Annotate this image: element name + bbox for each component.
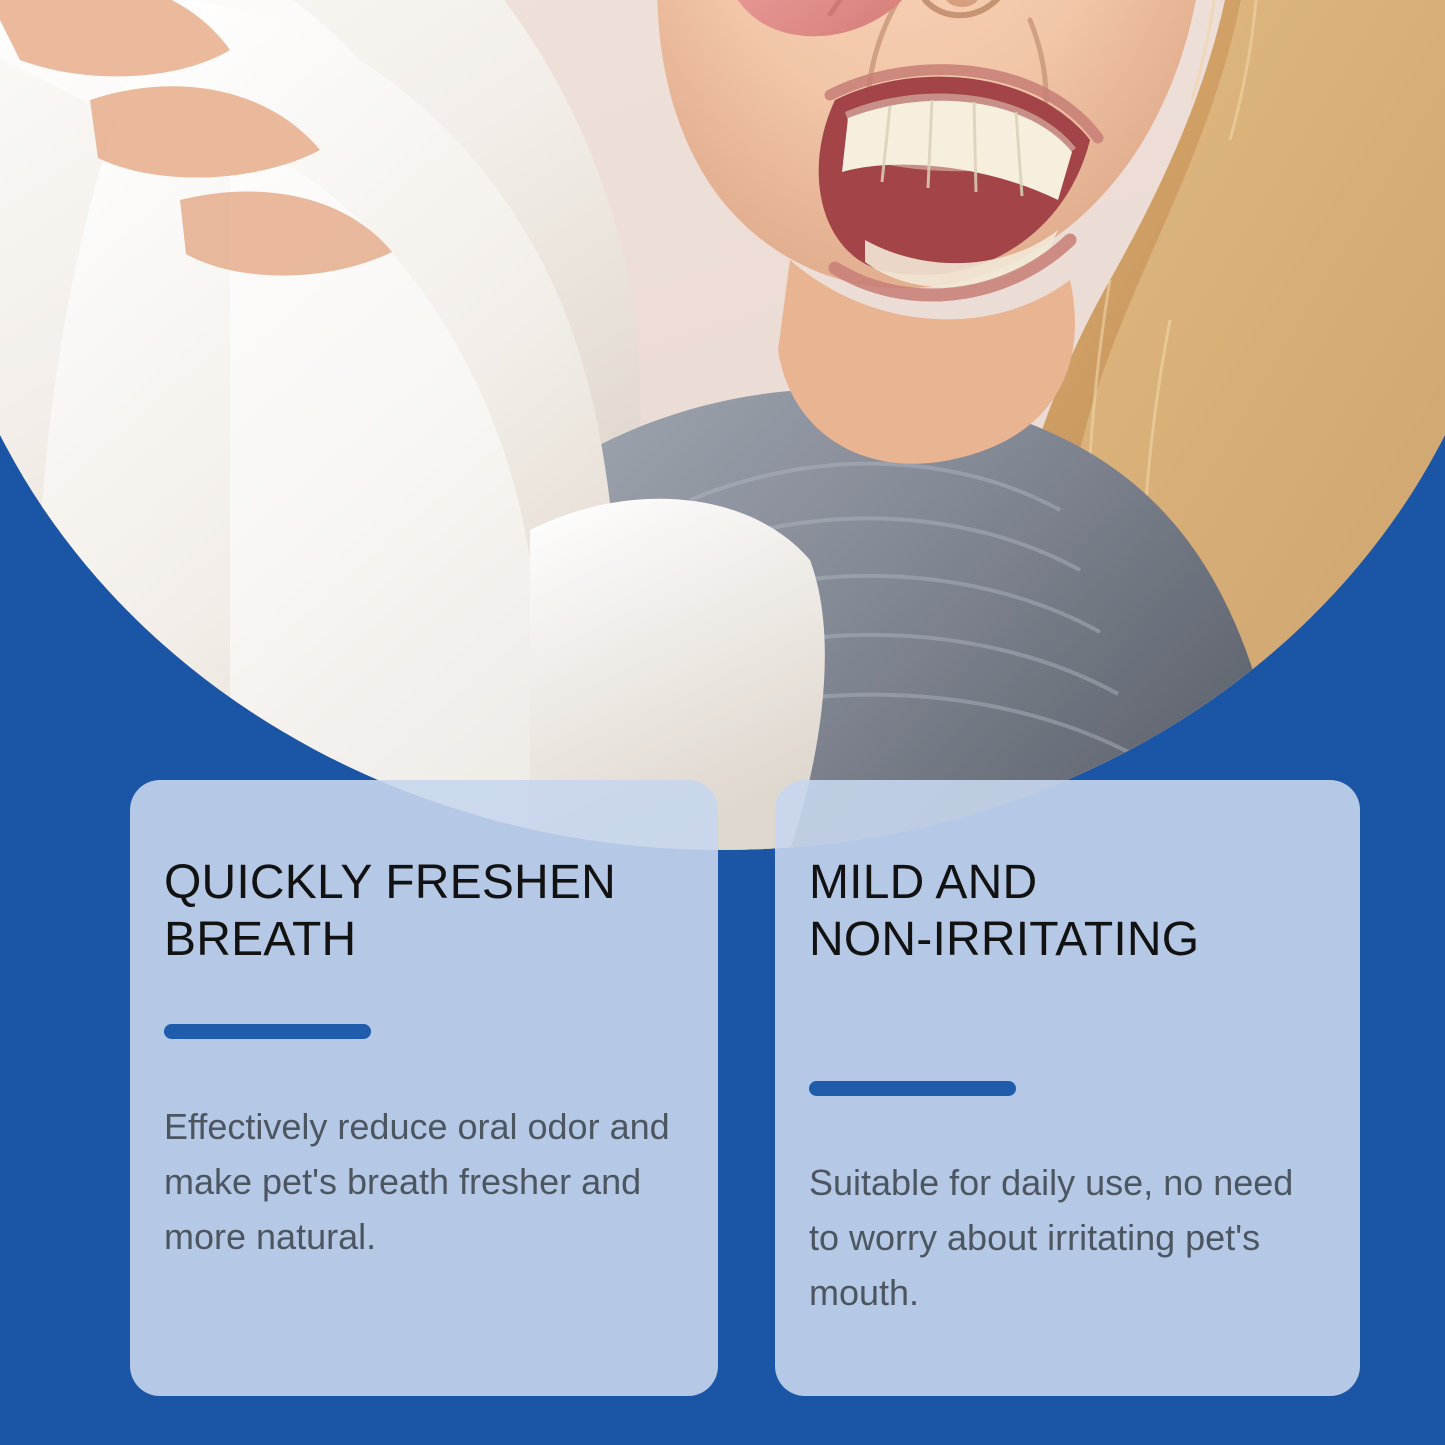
- feature-card-mild-and-non-irritating: MILD AND NON-IRRITATING Suitable for dai…: [775, 780, 1360, 1396]
- product-feature-poster: QUICKLY FRESHEN BREATH Effectively reduc…: [0, 0, 1445, 1445]
- hero-ellipse-clip: [0, 0, 1445, 850]
- feature-card-quickly-freshen-breath: QUICKLY FRESHEN BREATH Effectively reduc…: [130, 780, 718, 1396]
- accent-divider-bar: [809, 1081, 1016, 1096]
- accent-divider-bar: [164, 1024, 371, 1039]
- feature-card-title: QUICKLY FRESHEN BREATH: [130, 854, 718, 968]
- feature-card-body: Suitable for daily use, no need to worry…: [775, 1155, 1360, 1320]
- feature-card-body: Effectively reduce oral odor and make pe…: [130, 1099, 718, 1264]
- feature-card-title: MILD AND NON-IRRITATING: [775, 854, 1360, 968]
- girl-and-dog-photo: [0, 0, 1445, 850]
